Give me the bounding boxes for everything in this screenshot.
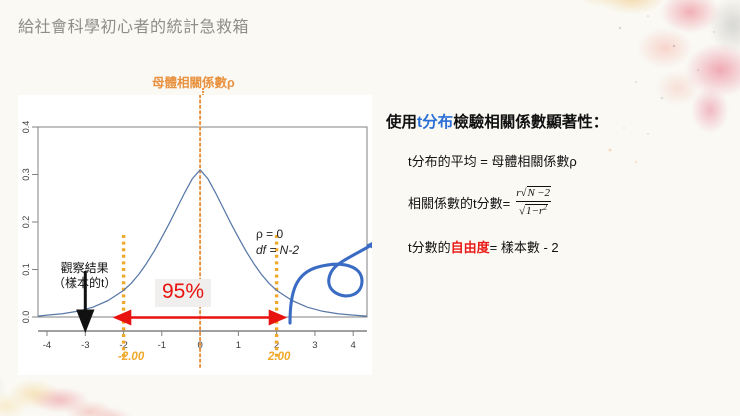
- formula-numerator: r√N −2: [513, 187, 554, 201]
- svg-text:-1: -1: [158, 340, 166, 351]
- heading-accent: t分布: [417, 114, 453, 131]
- observation-annotation: 觀察結果 （樣本的t）: [53, 261, 116, 291]
- mean-statement: t分布的平均 = 母體相關係數ρ: [408, 151, 731, 170]
- explanation-panel: 使用t分布檢驗相關係數顯著性： t分布的平均 = 母體相關係數ρ 相關係數的t分…: [386, 110, 731, 256]
- t-distribution-chart: 0.0 0.1 0.2 0.3 0.4 -4 -3: [18, 95, 372, 375]
- svg-text:-3: -3: [81, 340, 89, 351]
- heading-prefix: 使用: [386, 114, 417, 131]
- svg-text:0.3: 0.3: [21, 168, 31, 181]
- heading-suffix: 檢驗相關係數顯著性：: [453, 114, 608, 131]
- df-parameter-label: df = N-2: [256, 243, 299, 257]
- watercolor-speckle-icon: [602, 6, 732, 116]
- rho-parameter-label: ρ = 0: [256, 227, 283, 241]
- svg-text:0.0: 0.0: [21, 311, 31, 324]
- t-score-formula: r√N −2 √1−r2: [513, 187, 554, 218]
- svg-text:4: 4: [351, 340, 356, 351]
- observation-line-2: （樣本的t）: [53, 276, 116, 291]
- formula-denominator: √1−r2: [516, 201, 551, 218]
- svg-text:-4: -4: [43, 340, 51, 351]
- critical-value-negative-label: -2.00: [118, 351, 144, 363]
- svg-text:0.2: 0.2: [21, 216, 31, 229]
- df-suffix: = 樣本數 - 2: [490, 240, 559, 255]
- t-score-label: 相關係數的t分數=: [408, 193, 510, 212]
- observation-line-1: 觀察結果: [53, 261, 116, 276]
- df-statement: t分數的自由度= 樣本數 - 2: [408, 237, 731, 256]
- population-correlation-caption: 母體相關係數ρ: [152, 72, 235, 91]
- page-title: 給社會科學初心者的統計急救箱: [18, 13, 249, 37]
- explanation-heading: 使用t分布檢驗相關係數顯著性：: [386, 110, 731, 132]
- svg-text:1: 1: [236, 340, 241, 351]
- svg-text:3: 3: [312, 340, 317, 351]
- slide-canvas: 給社會科學初心者的統計急救箱 母體相關係數ρ 0.0 0.1 0.2 0.3 0…: [0, 0, 740, 416]
- critical-value-positive-label: 2.00: [268, 351, 290, 363]
- df-prefix: t分數的: [408, 240, 451, 255]
- t-score-statement: 相關係數的t分數= r√N −2 √1−r2: [408, 187, 731, 218]
- svg-text:0.1: 0.1: [21, 263, 31, 276]
- chart-plot-area: 0.0 0.1 0.2 0.3 0.4 -4 -3: [18, 95, 372, 375]
- df-highlight: 自由度: [451, 240, 490, 255]
- svg-text:0.4: 0.4: [21, 121, 31, 134]
- confidence-interval-label: 95%: [155, 279, 211, 307]
